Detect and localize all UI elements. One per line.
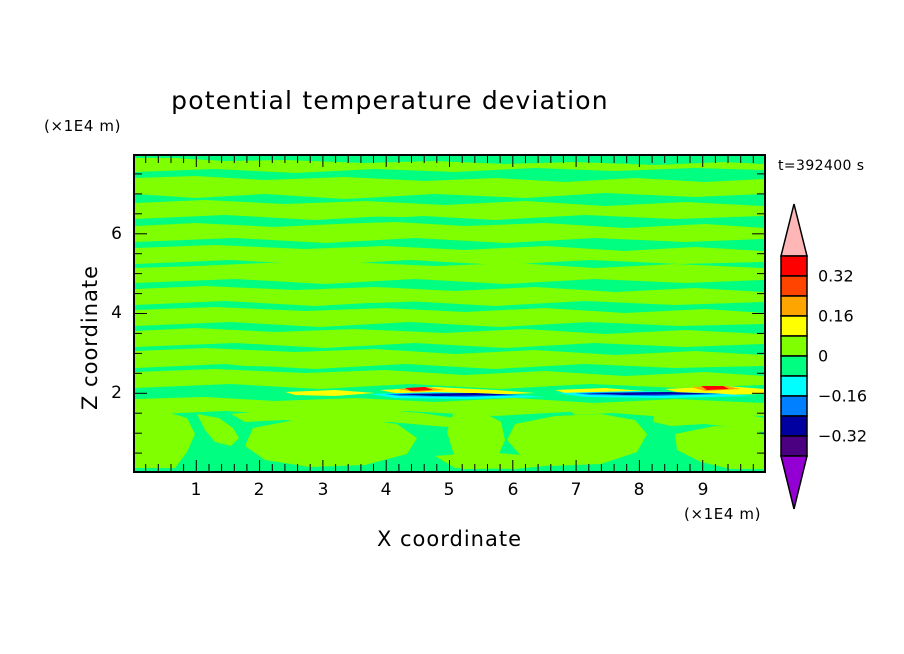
x-tick-label-7: 7 [571,480,582,500]
colorbar-label-2: 0 [818,347,828,366]
colorbar-cap-top [781,204,807,256]
colorbar-band-4 [781,336,807,356]
x-tick-label-1: 1 [191,480,202,500]
colorbar-label-3: −0.16 [818,387,867,406]
colorbar-band-1 [781,276,807,296]
x-tick-label-3: 3 [318,480,329,500]
y-tick-label-6: 6 [100,224,122,244]
colorbar-band-6 [781,376,807,396]
x-axis-unit-label: (×1E4 m) [684,505,761,523]
colorbar-band-7 [781,396,807,416]
colorbar-label-4: −0.32 [818,427,867,446]
colorbar-band-5 [781,356,807,376]
x-tick-label-6: 6 [508,480,519,500]
y-tick-label-2: 2 [100,383,122,403]
colorbar-bands [781,256,807,456]
page-title: potential temperature deviation [0,86,780,115]
colorbar-cap-bottom [781,456,807,509]
contour-plot-area[interactable] [133,154,766,473]
x-tick-label-5: 5 [444,480,455,500]
x-axis-title: X coordinate [133,527,766,551]
time-annotation: t=392400 s [778,158,864,174]
y-axis-title: Z coordinate [78,265,102,410]
figure-canvas: potential temperature deviation (×1E4 m)… [0,0,904,654]
colorbar-band-2 [781,296,807,316]
colorbar-band-9 [781,436,807,456]
colorbar-label-0: 0.32 [818,267,854,286]
colorbar-band-3 [781,316,807,336]
contour-band-yellowgreen-upper [135,158,764,389]
y-tick-label-4: 4 [100,303,122,323]
y-axis-unit-label: (×1E4 m) [44,117,121,135]
x-tick-label-2: 2 [254,480,265,500]
colorbar-label-1: 0.16 [818,307,854,326]
colorbar[interactable] [780,204,810,512]
colorbar-band-8 [781,416,807,436]
colorbar-svg [780,204,810,512]
x-tick-label-4: 4 [381,480,392,500]
x-tick-label-8: 8 [634,480,645,500]
contour-field-svg [135,156,764,471]
x-tick-label-9: 9 [698,480,709,500]
colorbar-band-0 [781,256,807,276]
